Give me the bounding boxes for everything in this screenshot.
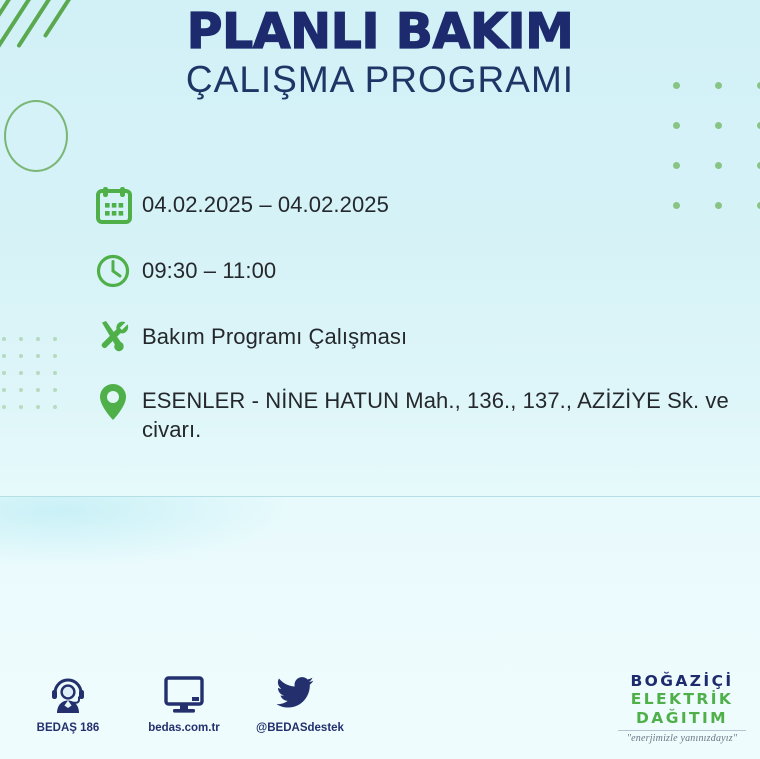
circle-outline-decoration bbox=[4, 100, 68, 172]
brand-logo: BOĞAZİÇİ ELEKTRİK DAĞITIM "enerjimizle y… bbox=[612, 672, 752, 744]
footer: BEDAŞ 186 bedas.com.tr bbox=[0, 672, 760, 759]
info-row-location: ESENLER - NİNE HATUN Mah., 136., 137., A… bbox=[96, 382, 756, 444]
contact-website[interactable]: bedas.com.tr bbox=[140, 672, 228, 734]
location-pin-icon bbox=[96, 382, 142, 426]
clock-icon bbox=[96, 252, 142, 296]
page-title: PLANLI BAKIM bbox=[0, 6, 760, 57]
info-row-date: 04.02.2025 – 04.02.2025 bbox=[96, 186, 756, 230]
work-type-text: Bakım Programı Çalışması bbox=[142, 318, 407, 351]
info-row-worktype: Bakım Programı Çalışması bbox=[96, 318, 756, 362]
contact-twitter[interactable]: @BEDASdestek bbox=[256, 672, 344, 734]
date-range-text: 04.02.2025 – 04.02.2025 bbox=[142, 186, 389, 219]
contact-list: BEDAŞ 186 bedas.com.tr bbox=[24, 672, 344, 734]
location-text: ESENLER - NİNE HATUN Mah., 136., 137., A… bbox=[142, 382, 756, 444]
header: PLANLI BAKIM ÇALIŞMA PROGRAMI bbox=[0, 0, 760, 100]
time-range-text: 09:30 – 11:00 bbox=[142, 252, 276, 285]
info-list: 04.02.2025 – 04.02.2025 09:30 – 11:00 bbox=[96, 186, 756, 464]
tools-icon bbox=[96, 318, 142, 362]
contact-twitter-label: @BEDASdestek bbox=[256, 722, 344, 734]
maintenance-notice-card: PLANLI BAKIM ÇALIŞMA PROGRAMI 04.02.2025… bbox=[0, 0, 760, 759]
contact-website-label: bedas.com.tr bbox=[148, 722, 220, 734]
brand-divider bbox=[618, 730, 746, 731]
twitter-bird-icon bbox=[277, 672, 323, 718]
calendar-icon bbox=[96, 186, 142, 230]
contact-phone-label: BEDAŞ 186 bbox=[37, 722, 100, 734]
brand-line-dagitim: DAĞITIM bbox=[612, 709, 752, 727]
info-row-time: 09:30 – 11:00 bbox=[96, 252, 756, 296]
contact-phone[interactable]: BEDAŞ 186 bbox=[24, 672, 112, 734]
monitor-icon bbox=[162, 672, 206, 718]
brand-line-elektrik: ELEKTRİK bbox=[612, 690, 752, 708]
brand-tagline: "enerjimizle yanınızdayız" bbox=[612, 733, 752, 744]
headset-operator-icon bbox=[47, 672, 89, 718]
page-subtitle: ÇALIŞMA PROGRAMI bbox=[0, 61, 760, 100]
dot-grid-left-decoration bbox=[2, 337, 70, 422]
brand-line-bogazici: BOĞAZİÇİ bbox=[612, 672, 752, 690]
